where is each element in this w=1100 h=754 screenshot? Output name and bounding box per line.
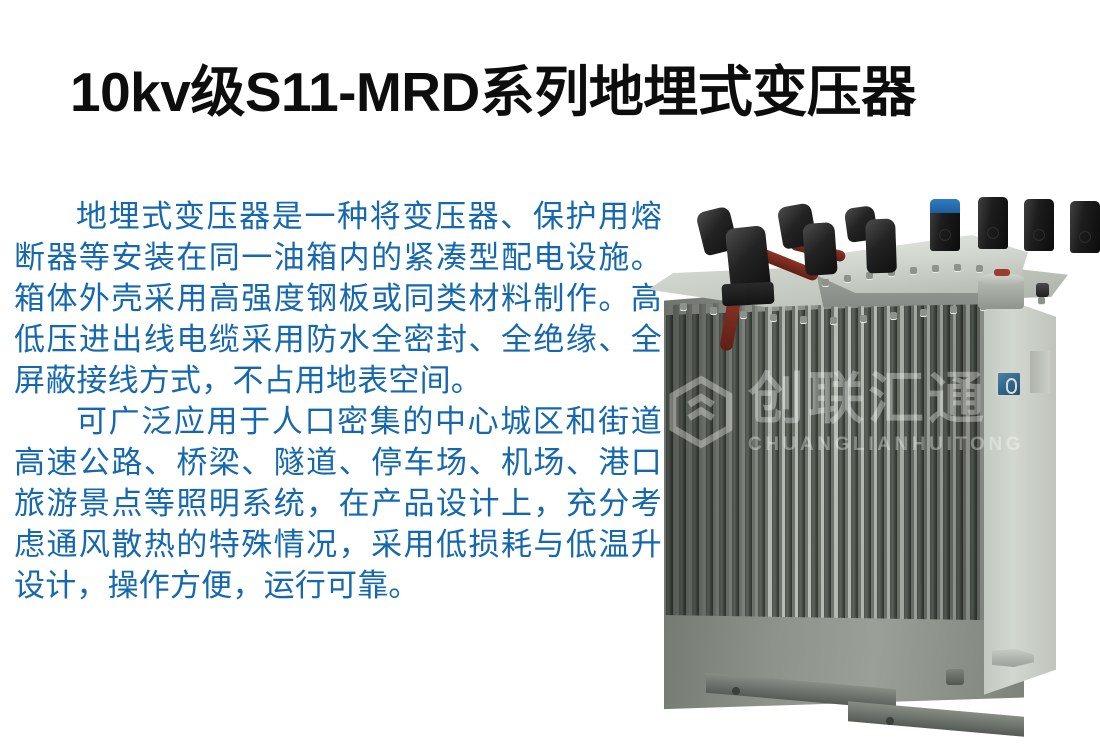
radiator-fin xyxy=(785,300,795,632)
hv-elbow-connector-6 xyxy=(865,218,897,273)
cover-bolt xyxy=(920,309,927,316)
product-banner: 10kv级S11-MRD系列地埋式变压器 地埋式变压器是一种将变压器、保护用熔断… xyxy=(0,0,1100,754)
radiator-fin xyxy=(943,294,953,626)
radiator-fin xyxy=(732,302,742,634)
cover-bolt xyxy=(976,265,983,272)
cover-bolt xyxy=(860,315,867,322)
radiator-fin xyxy=(970,293,980,625)
cover-bolt xyxy=(954,264,961,271)
cover-bolt xyxy=(770,314,777,321)
radiator-fin xyxy=(745,302,755,634)
cover-bolt xyxy=(822,279,829,286)
grounding-lug xyxy=(946,669,964,685)
lv-bushing-4 xyxy=(1070,201,1100,253)
radiator-fin xyxy=(706,303,716,635)
cover-bolt xyxy=(932,265,939,272)
radiator-fin xyxy=(824,299,834,631)
oil-filler-plug xyxy=(1036,283,1049,297)
radiator-fin xyxy=(798,300,808,632)
lv-bushing-1 xyxy=(930,199,960,251)
radiator-fin xyxy=(811,299,821,631)
cover-bolt xyxy=(800,316,807,323)
radiator-fin xyxy=(917,295,927,627)
radiator-fin xyxy=(890,296,900,628)
radiator-fin xyxy=(877,297,887,629)
pressure-relief-indicator xyxy=(994,269,1010,276)
transformer-side-panel xyxy=(984,279,1056,699)
hv-elbow-base-1 xyxy=(721,282,774,307)
base-skid-hole-1 xyxy=(732,687,740,695)
description-block: 地埋式变压器是一种将变压器、保护用熔断器等安装在同一油箱内的紧凑型配电设施。箱体… xyxy=(14,196,662,606)
cover-bolt xyxy=(844,275,851,282)
lv-bushing-3 xyxy=(1024,199,1054,251)
radiator-fin xyxy=(904,296,914,628)
oil-level-gauge-icon xyxy=(996,371,1022,397)
lv-bushing-blue-cap xyxy=(930,199,960,213)
radiator-fin xyxy=(864,297,874,629)
description-paragraph-2: 可广泛应用于人口密集的中心城区和街道高速公路、桥梁、隧道、停车场、机场、港口旅游… xyxy=(14,401,662,606)
radiator-fin xyxy=(930,295,940,627)
radiator-fin xyxy=(838,298,848,630)
transformer-illustration xyxy=(640,175,1100,735)
radiator-fin xyxy=(719,303,729,635)
cover-bolt xyxy=(1038,297,1045,304)
hv-elbow-connector-4 xyxy=(802,222,838,276)
radiator-fin xyxy=(758,301,768,633)
cover-bolt xyxy=(740,311,747,318)
radiator-fin xyxy=(772,301,782,633)
cover-bolt xyxy=(680,303,687,310)
radiator-fin xyxy=(666,305,676,637)
lv-bushing-2 xyxy=(978,197,1008,249)
cover-bolt xyxy=(910,267,917,274)
cover-bolt xyxy=(890,312,897,319)
base-skid-hole-2 xyxy=(886,717,894,725)
cover-bolt xyxy=(710,307,717,314)
nameplate-bracket xyxy=(1030,351,1050,393)
base-skid-rear xyxy=(848,701,1024,736)
radiator-fin xyxy=(692,304,702,636)
radiator-fin-bank xyxy=(666,293,986,637)
cover-bolt xyxy=(950,306,957,313)
product-image xyxy=(640,175,1100,735)
radiator-fin xyxy=(956,294,966,626)
radiator-fin xyxy=(851,298,861,630)
description-paragraph-1: 地埋式变压器是一种将变压器、保护用熔断器等安装在同一油箱内的紧凑型配电设施。箱体… xyxy=(14,196,662,401)
page-title: 10kv级S11-MRD系列地埋式变压器 xyxy=(70,62,916,123)
radiator-fin xyxy=(679,304,689,636)
cover-bolt xyxy=(830,317,837,324)
